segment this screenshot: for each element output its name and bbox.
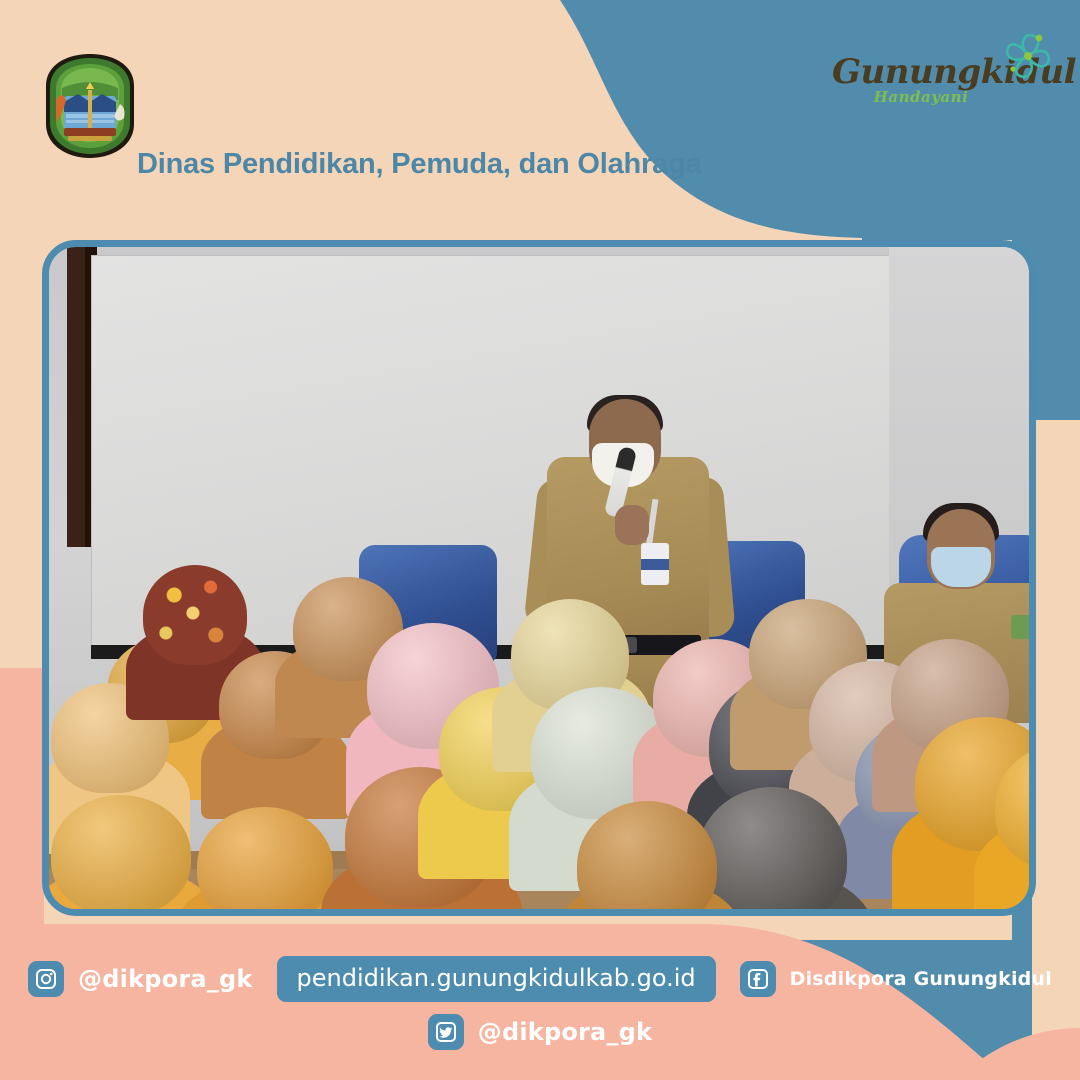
gunungkidul-brand-logo: Gunungkidul Handayani	[832, 26, 1062, 126]
twitter-glyph	[434, 1020, 458, 1044]
social-row-twitter: @dikpora_gk	[0, 1014, 1080, 1050]
brand-tagline: Handayani	[846, 88, 996, 106]
audience-member-head	[51, 795, 191, 909]
event-photo	[49, 247, 1029, 909]
website-url-pill[interactable]: pendidikan.gunungkidulkab.go.id	[277, 956, 716, 1002]
seated-officer-shoulder-emblem	[1011, 615, 1029, 639]
facebook-icon[interactable]	[740, 961, 776, 997]
twitter-handle[interactable]: @dikpora_gk	[478, 1018, 652, 1046]
event-photo-frame	[42, 240, 1036, 916]
title-line-1: Dinas Pendidikan, Pemuda, dan Olahraga	[137, 145, 702, 183]
speaker-hand	[615, 505, 649, 545]
instagram-glyph	[34, 967, 58, 991]
twitter-icon[interactable]	[428, 1014, 464, 1050]
gunungkidul-regency-crest-icon	[42, 52, 138, 160]
audience-member-head	[143, 565, 247, 665]
social-footer: @dikpora_gk pendidikan.gunungkidulkab.go…	[0, 930, 1080, 1080]
facebook-page-name[interactable]: Disdikpora Gunungkidul	[790, 968, 1052, 990]
speaker-id-badge-strip	[641, 559, 669, 570]
dragonfly-flourish-icon	[998, 26, 1056, 82]
instagram-handle[interactable]: @dikpora_gk	[78, 965, 252, 993]
instagram-icon[interactable]	[28, 961, 64, 997]
social-row-primary: @dikpora_gk pendidikan.gunungkidulkab.go…	[0, 956, 1080, 1002]
seated-officer-face-mask	[931, 547, 991, 587]
poster-canvas: Dinas Pendidikan, Pemuda, dan Olahraga K…	[0, 0, 1080, 1080]
facebook-glyph	[746, 967, 770, 991]
